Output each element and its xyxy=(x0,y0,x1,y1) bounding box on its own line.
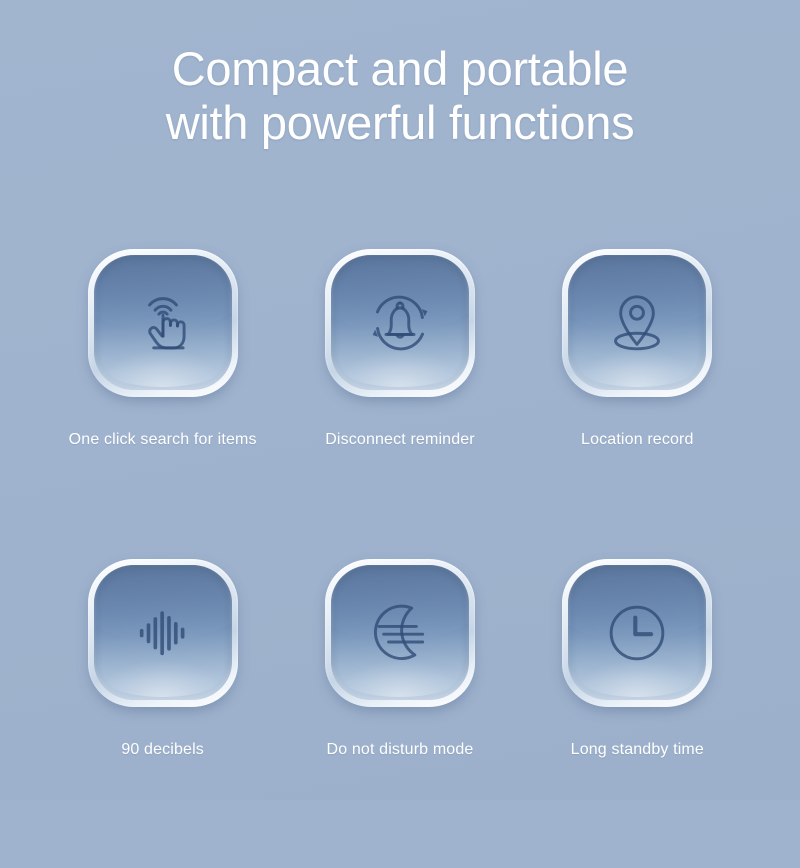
feature-button-location-record[interactable] xyxy=(561,248,713,398)
location-pin-icon xyxy=(598,284,676,362)
button-face xyxy=(94,565,232,700)
feature-button-do-not-disturb[interactable] xyxy=(324,558,476,708)
feature-label: Disconnect reminder xyxy=(325,431,475,449)
feature-button-90-decibels[interactable] xyxy=(87,558,239,708)
bell-sync-icon xyxy=(361,284,439,362)
feature-grid: One click search for items xyxy=(44,248,756,868)
button-face xyxy=(331,565,469,700)
feature-label: 90 decibels xyxy=(121,741,204,759)
page-title: Compact and portable with powerful funct… xyxy=(0,42,800,150)
feature-label: One click search for items xyxy=(69,431,257,449)
feature-item-location-record: Location record xyxy=(519,248,756,558)
button-bezel xyxy=(325,559,475,707)
crescent-moon-icon xyxy=(361,594,439,672)
clock-icon xyxy=(598,594,676,672)
feature-item-do-not-disturb: Do not disturb mode xyxy=(281,558,518,868)
button-bezel xyxy=(88,249,238,397)
feature-label: Location record xyxy=(581,431,694,449)
headline-line-2: with powerful functions xyxy=(0,96,800,150)
feature-button-long-standby-time[interactable] xyxy=(561,558,713,708)
feature-item-90-decibels: 90 decibels xyxy=(44,558,281,868)
button-bezel xyxy=(562,249,712,397)
sound-wave-icon xyxy=(124,594,202,672)
feature-item-disconnect-reminder: Disconnect reminder xyxy=(281,248,518,558)
feature-item-one-click-search: One click search for items xyxy=(44,248,281,558)
tap-gesture-icon xyxy=(124,284,202,362)
button-bezel xyxy=(562,559,712,707)
button-face xyxy=(331,255,469,390)
button-bezel xyxy=(325,249,475,397)
promo-page: Compact and portable with powerful funct… xyxy=(0,0,800,800)
headline-line-1: Compact and portable xyxy=(0,42,800,96)
button-bezel xyxy=(88,559,238,707)
feature-button-disconnect-reminder[interactable] xyxy=(324,248,476,398)
feature-label: Do not disturb mode xyxy=(327,741,474,759)
button-face xyxy=(94,255,232,390)
feature-item-long-standby-time: Long standby time xyxy=(519,558,756,868)
button-face xyxy=(568,255,706,390)
feature-button-one-click-search[interactable] xyxy=(87,248,239,398)
feature-label: Long standby time xyxy=(571,741,704,759)
button-face xyxy=(568,565,706,700)
